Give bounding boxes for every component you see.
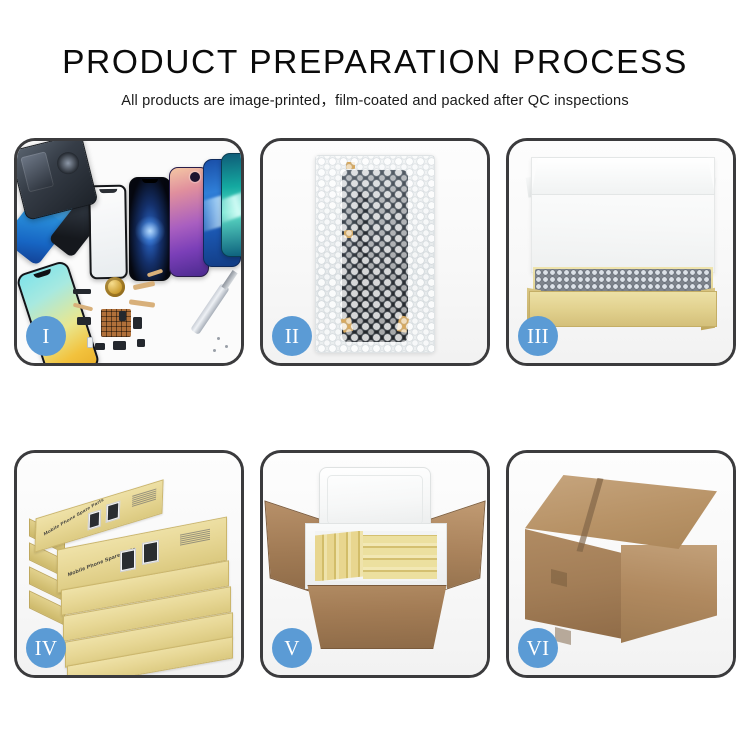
process-step-grid: I II: [14, 138, 736, 678]
process-step-1[interactable]: I: [14, 138, 244, 366]
carton-front-wall: [303, 585, 451, 649]
notch-icon: [142, 179, 158, 183]
small-part: [77, 317, 91, 325]
small-part: [137, 339, 145, 347]
step-1-image: I: [17, 141, 241, 363]
header: PRODUCT PREPARATION PROCESS All products…: [0, 0, 750, 110]
small-part: [95, 343, 105, 350]
bubble-wrap-bag: [315, 155, 435, 353]
process-step-3[interactable]: III: [506, 138, 736, 366]
small-part: [73, 289, 91, 294]
small-part: [87, 337, 93, 348]
page-root: PRODUCT PREPARATION PROCESS All products…: [0, 0, 750, 750]
carton-face-left: [525, 529, 623, 639]
bubble-texture: [316, 156, 434, 352]
process-step-2[interactable]: II: [260, 138, 490, 366]
inner-boxes-area: [315, 531, 437, 581]
phone-screen-lightning: [129, 177, 171, 281]
step-2-image: II: [263, 141, 487, 363]
step-badge-2: II: [272, 316, 312, 356]
screw: [213, 349, 216, 352]
step-badge-4: IV: [26, 628, 66, 668]
flex-cable: [129, 299, 155, 308]
box-spec-lines: [180, 529, 210, 547]
screwdriver-icon: [190, 283, 230, 335]
copper-chip-grid: [101, 309, 131, 337]
step-3-image: III: [509, 141, 733, 363]
box-artwork-thumbnail: [106, 500, 121, 522]
carton-face-right: [621, 545, 717, 643]
screw: [217, 337, 220, 340]
box-artwork-thumbnail: [88, 509, 102, 530]
notch-icon: [33, 269, 52, 279]
process-step-6[interactable]: VI: [506, 450, 736, 678]
kraft-box-front: [529, 291, 717, 327]
phone-screen-teal: [221, 153, 241, 257]
box-spec-lines: [132, 488, 156, 508]
inner-boxes-vertical: [315, 531, 363, 581]
screw: [225, 345, 228, 348]
flex-cable: [133, 281, 156, 290]
step-6-image: VI: [509, 453, 733, 675]
step-badge-3: III: [518, 316, 558, 356]
box-artwork-thumbnail: [120, 548, 136, 572]
page-subtitle: All products are image-printed，film-coat…: [0, 80, 750, 110]
step-badge-5: V: [272, 628, 312, 668]
small-part: [119, 311, 126, 321]
process-step-5[interactable]: V: [260, 450, 490, 678]
box-artwork-thumbnail: [142, 540, 159, 565]
process-step-4[interactable]: Mobile Phone Spare Parts Mobile Phone Sp…: [14, 450, 244, 678]
inner-boxes-horizontal: [363, 535, 437, 579]
page-title: PRODUCT PREPARATION PROCESS: [0, 0, 750, 80]
step-badge-1: I: [26, 316, 66, 356]
small-part: [133, 317, 142, 329]
step-4-image: Mobile Phone Spare Parts Mobile Phone Sp…: [17, 453, 241, 675]
step-5-image: V: [263, 453, 487, 675]
small-part: [113, 341, 126, 350]
punch-hole-icon: [190, 172, 200, 182]
foam-lid-top: [531, 157, 715, 195]
gold-coil-part: [105, 277, 125, 297]
step-badge-6: VI: [518, 628, 558, 668]
